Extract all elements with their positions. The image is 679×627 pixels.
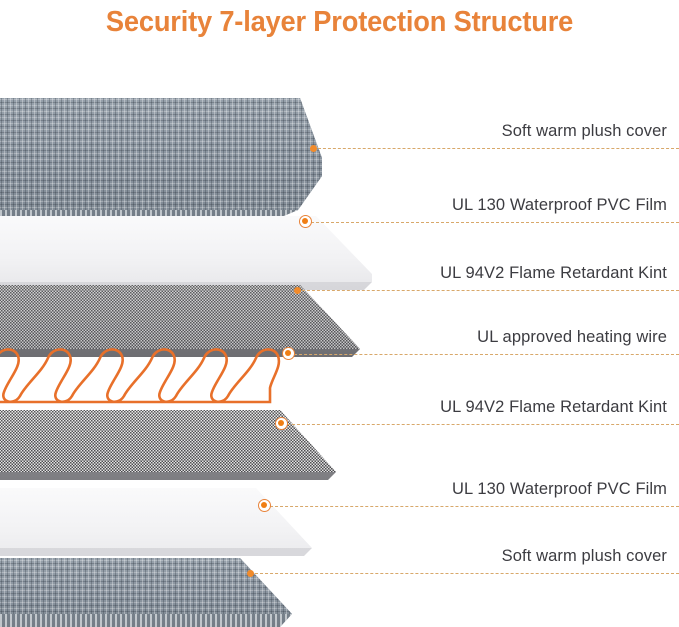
callout-label-3: UL 94V2 Flame Retardant Kint bbox=[297, 264, 667, 283]
callout-label-4: UL approved heating wire bbox=[289, 328, 667, 347]
marker-dot-icon[interactable] bbox=[275, 417, 288, 430]
callout-label-6: UL 130 Waterproof PVC Film bbox=[265, 480, 667, 499]
heating-wire-path bbox=[0, 349, 279, 402]
layer-7-plush-cover bbox=[0, 556, 320, 627]
layer-5-flame-retardant-knit bbox=[0, 408, 360, 490]
callout-dash-line-3 bbox=[297, 290, 679, 291]
callout-dash-line-2 bbox=[306, 222, 679, 223]
layer-1-shape bbox=[0, 98, 340, 220]
marker-dot-icon[interactable] bbox=[299, 215, 312, 228]
marker-dot-icon[interactable] bbox=[258, 499, 271, 512]
layer-stack-diagram bbox=[0, 0, 679, 627]
callout-dash-line-4 bbox=[289, 354, 679, 355]
callout-dash-line-5 bbox=[282, 424, 679, 425]
layer-5-shape bbox=[0, 408, 360, 490]
callout-label-7: Soft warm plush cover bbox=[250, 547, 667, 566]
callout-label-1: Soft warm plush cover bbox=[313, 122, 667, 141]
layer-7-shape bbox=[0, 556, 320, 627]
callout-dash-line-1 bbox=[313, 148, 679, 149]
callout-label-5: UL 94V2 Flame Retardant Kint bbox=[282, 398, 667, 417]
marker-dot-icon[interactable] bbox=[244, 567, 257, 580]
marker-dot-icon[interactable] bbox=[307, 142, 320, 155]
callout-dash-line-6 bbox=[265, 506, 679, 507]
layer-1-plush-cover bbox=[0, 98, 340, 220]
callout-label-2: UL 130 Waterproof PVC Film bbox=[306, 196, 667, 215]
marker-dot-icon[interactable] bbox=[291, 284, 304, 297]
marker-dot-icon[interactable] bbox=[282, 347, 295, 360]
callout-dash-line-7 bbox=[250, 573, 679, 574]
